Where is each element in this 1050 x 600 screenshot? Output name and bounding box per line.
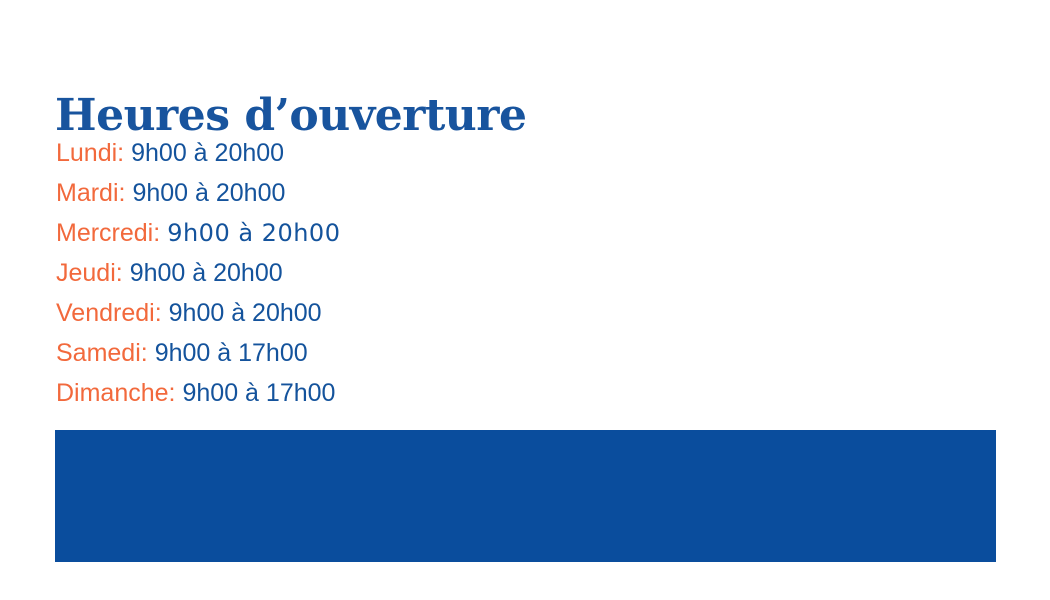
list-item: Mercredi:9h00 à 20h00: [56, 213, 340, 253]
time-value: 9h00 à 17h00: [155, 339, 308, 367]
blue-banner-block: [55, 430, 996, 562]
time-value: 9h00 à 20h00: [169, 299, 322, 327]
list-item: Jeudi:9h00 à 20h00: [56, 253, 340, 293]
day-label: Vendredi:: [56, 299, 162, 327]
slide-canvas: Heures d’ouverture Lundi:9h00 à 20h00 Ma…: [0, 0, 1050, 600]
list-item: Mardi:9h00 à 20h00: [56, 173, 340, 213]
time-value: 9h00 à 20h00: [131, 139, 284, 167]
list-item: Samedi:9h00 à 17h00: [56, 333, 340, 373]
day-label: Mardi:: [56, 179, 125, 207]
time-value: 9h00 à 20h00: [132, 179, 285, 207]
day-label: Mercredi:: [56, 219, 160, 247]
list-item: Lundi:9h00 à 20h00: [56, 133, 340, 173]
list-item: Vendredi:9h00 à 20h00: [56, 293, 340, 333]
day-label: Dimanche:: [56, 379, 176, 407]
day-label: Samedi:: [56, 339, 148, 367]
time-value: 9h00 à 17h00: [183, 379, 336, 407]
time-value: 9h00 à 20h00: [130, 259, 283, 287]
opening-hours-list: Lundi:9h00 à 20h00 Mardi:9h00 à 20h00 Me…: [56, 133, 340, 413]
list-item: Dimanche:9h00 à 17h00: [56, 373, 340, 413]
day-label: Jeudi:: [56, 259, 123, 287]
time-value: 9h00 à 20h00: [167, 219, 340, 247]
day-label: Lundi:: [56, 139, 124, 167]
